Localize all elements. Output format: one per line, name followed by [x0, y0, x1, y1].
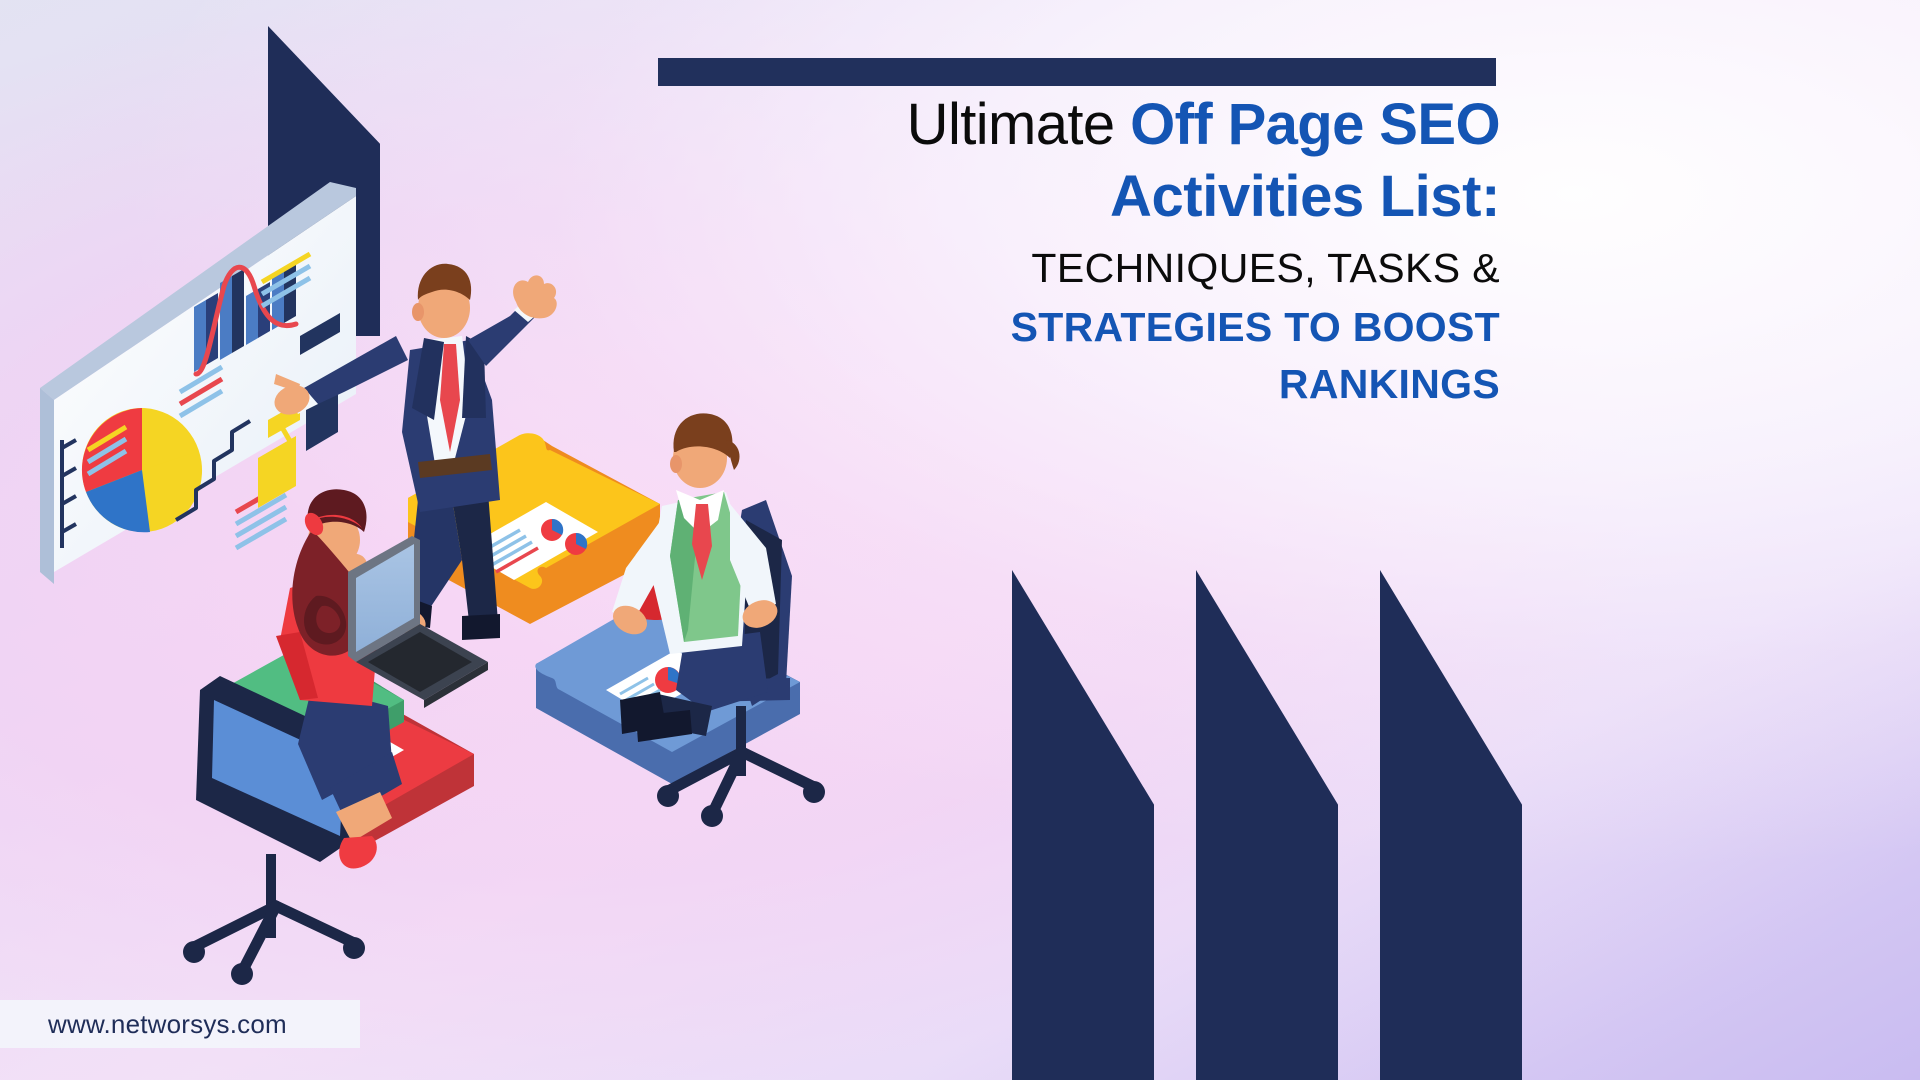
- website-url-text[interactable]: www.networsys.com: [0, 1009, 287, 1040]
- navy-pillar-3: [1380, 570, 1522, 1080]
- headline-line-1-plain: Ultimate: [907, 92, 1130, 157]
- website-url-strip: www.networsys.com: [0, 1000, 360, 1048]
- headline-line-3: TECHNIQUES, TASKS &: [660, 248, 1500, 289]
- headline-line-1-accent: Off Page SEO: [1130, 92, 1500, 157]
- banner-canvas: Ultimate Off Page SEO Activities List: T…: [0, 0, 1920, 1080]
- navy-pillar-2: [1196, 570, 1338, 1080]
- headline-line-5: RANKINGS: [660, 364, 1500, 405]
- headline-block: Ultimate Off Page SEO Activities List: T…: [660, 96, 1500, 405]
- headline-line-1: Ultimate Off Page SEO: [660, 96, 1500, 154]
- headline-line-2: Activities List:: [660, 168, 1500, 226]
- navy-pillar-1: [1012, 570, 1154, 1080]
- headline-line-4: STRATEGIES TO BOOST: [660, 307, 1500, 348]
